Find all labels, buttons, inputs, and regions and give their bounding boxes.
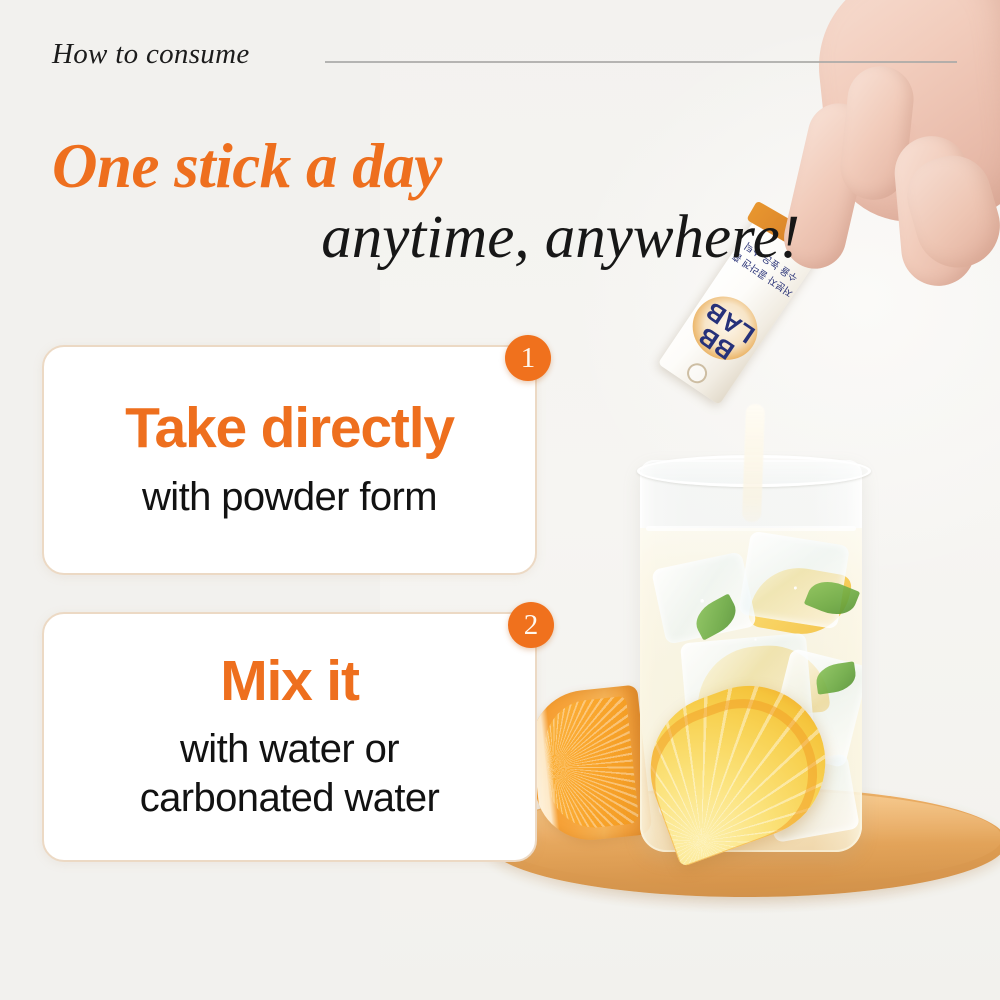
mint-leaf <box>814 661 858 694</box>
hand-thumb <box>898 147 1000 278</box>
glass-rim <box>637 455 871 487</box>
ice-cube <box>767 648 862 768</box>
step-card-2-subtitle-line-2: carbonated water <box>140 774 439 823</box>
ice-cube <box>658 731 770 827</box>
step-card-1-subtitle: with powder form <box>142 473 437 522</box>
mint-leaf <box>667 751 719 800</box>
headline-line-2: anytime, anywhere! <box>52 204 812 271</box>
amber-saucer <box>487 787 1000 897</box>
headline-line-1: One stick a day <box>52 132 812 200</box>
step-badge-2: 2 <box>508 602 554 648</box>
step-card-1-subtitle-line-1: with powder form <box>142 473 437 522</box>
carbonation-bubbles <box>640 530 862 852</box>
step-badge-1: 1 <box>505 335 551 381</box>
hand-holding-stick <box>786 0 1000 290</box>
step-card-2-content: Mix it with water or carbonated water <box>44 614 535 860</box>
header-divider <box>325 61 957 63</box>
ice-cube <box>738 531 850 630</box>
orange-wedge <box>525 685 652 846</box>
mint-leaf <box>804 574 860 622</box>
step-card-1-content: Take directly with powder form <box>44 347 535 573</box>
ice-cube <box>651 551 757 644</box>
glass-liquid <box>640 528 862 852</box>
infographic-poster: 저분자 콜라겐 흡수율 높은 스틱 BB LAB How to consume … <box>0 0 1000 1000</box>
ice-cube <box>680 633 814 740</box>
step-card-1[interactable]: Take directly with powder form <box>42 345 537 575</box>
citrus-piece <box>694 641 831 720</box>
mint-leaf <box>690 593 743 640</box>
page-title: One stick a day anytime, anywhere! <box>52 132 812 271</box>
step-card-1-title: Take directly <box>125 398 454 458</box>
hand-finger <box>837 63 917 203</box>
section-eyebrow: How to consume <box>52 38 250 71</box>
table-shadow <box>460 830 1000 950</box>
hand-finger <box>892 133 979 289</box>
hand-palm <box>809 0 1000 230</box>
hand-knuckle <box>852 116 924 166</box>
step-card-2-subtitle-line-1: with water or <box>140 725 439 774</box>
lemon-slice <box>629 664 846 867</box>
stick-pack-orange-accent <box>680 284 769 372</box>
liquid-surface-line <box>646 526 856 531</box>
step-card-2-title: Mix it <box>220 651 358 711</box>
stick-pack-notch-icon <box>683 359 711 387</box>
powder-pour-stream <box>742 404 765 523</box>
step-card-2[interactable]: Mix it with water or carbonated water <box>42 612 537 862</box>
ice-cube <box>762 753 860 843</box>
stick-pack-brand-label: BB LAB <box>679 291 768 374</box>
drinking-glass <box>640 460 862 852</box>
step-card-2-subtitle: with water or carbonated water <box>140 725 439 823</box>
citrus-piece <box>747 560 853 642</box>
saucer-highlight <box>492 790 1000 886</box>
